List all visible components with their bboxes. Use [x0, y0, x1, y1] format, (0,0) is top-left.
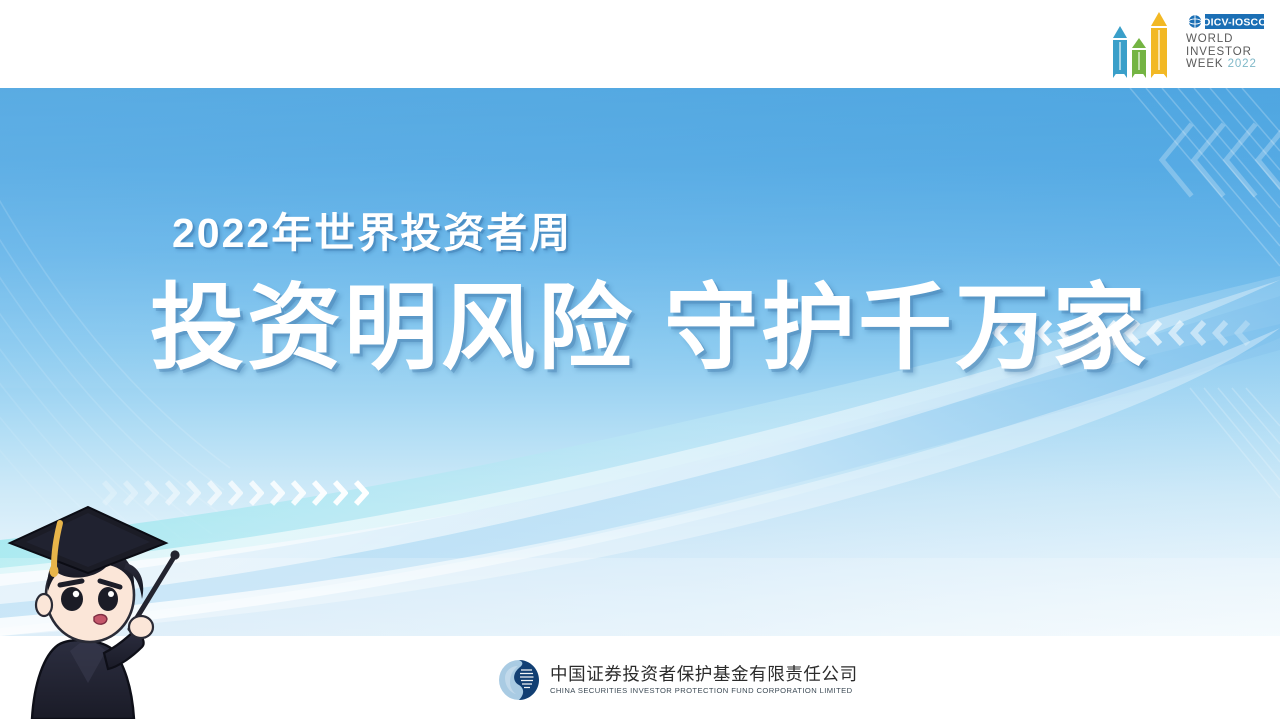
mascot-eye-right-glint — [108, 591, 114, 597]
chevron-right-icon — [331, 480, 348, 506]
world-investor-week-logo: OICV-IOSCO WORLD INVESTOR WEEK 2022 — [1094, 6, 1266, 84]
chevron-strip-left-pointing — [992, 320, 1251, 346]
chevron-left-icon — [1212, 320, 1229, 346]
chevron-left-icon — [1102, 320, 1119, 346]
chevron-right-icon — [205, 480, 222, 506]
chevron-left-icon — [1234, 320, 1251, 346]
chevron-left-icon — [1146, 320, 1163, 346]
chevron-left-icon — [1124, 320, 1141, 346]
sipf-emblem-icon — [497, 658, 541, 702]
graduation-cap — [10, 507, 166, 577]
chevron-right-icon — [268, 480, 285, 506]
chevron-right-icon — [226, 480, 243, 506]
header-band: OICV-IOSCO WORLD INVESTOR WEEK 2022 — [0, 0, 1280, 88]
oicv-iosco-logo: OICV-IOSCO — [1186, 13, 1264, 30]
chevron-right-icon — [247, 480, 264, 506]
world-investor-week-wordmark: WORLD INVESTOR WEEK 2022 — [1186, 33, 1270, 71]
wiw-line-investor: INVESTOR — [1186, 46, 1270, 59]
mascot-hand — [129, 616, 153, 638]
pencil-blue-icon — [1113, 26, 1127, 78]
chevron-left-icon — [1168, 320, 1185, 346]
pencil-green-icon — [1132, 38, 1146, 78]
chevron-right-icon — [310, 480, 327, 506]
wiw-line-week-year: WEEK 2022 — [1186, 58, 1270, 71]
mascot-mouth — [94, 615, 107, 625]
sipf-name-en: CHINA SECURITIES INVESTOR PROTECTION FUN… — [550, 686, 858, 696]
graduate-teacher-mascot — [0, 487, 200, 719]
svg-text:OICV-IOSCO: OICV-IOSCO — [1202, 16, 1264, 28]
mascot-eye-left-glint — [73, 591, 79, 597]
chevron-left-icon — [1080, 320, 1097, 346]
wiw-year: 2022 — [1228, 58, 1257, 70]
mascot-ear — [36, 594, 52, 616]
pencil-yellow-icon — [1151, 12, 1167, 78]
chevron-right-icon — [352, 480, 369, 506]
chevron-left-icon — [992, 320, 1009, 346]
sipf-wordmark: 中国证券投资者保护基金有限责任公司 CHINA SECURITIES INVES… — [550, 664, 858, 696]
wiw-week-word: WEEK — [1186, 58, 1223, 70]
chevron-left-icon — [1058, 320, 1075, 346]
chevron-left-icon — [1014, 320, 1031, 346]
mascot-eye-left — [61, 587, 83, 611]
sipf-logo: 中国证券投资者保护基金有限责任公司 CHINA SECURITIES INVES… — [497, 658, 858, 702]
wiw-line-world: WORLD — [1186, 33, 1270, 46]
chevron-left-icon — [1036, 320, 1053, 346]
poster-stage: 2022年世界投资者周 投资明风险 守护千万家 — [0, 0, 1280, 719]
sipf-name-cn: 中国证券投资者保护基金有限责任公司 — [550, 664, 858, 685]
mascot-eye-right — [98, 587, 118, 611]
pencils-icon — [1098, 10, 1184, 80]
chevron-left-icon — [1190, 320, 1207, 346]
chevron-right-icon — [289, 480, 306, 506]
